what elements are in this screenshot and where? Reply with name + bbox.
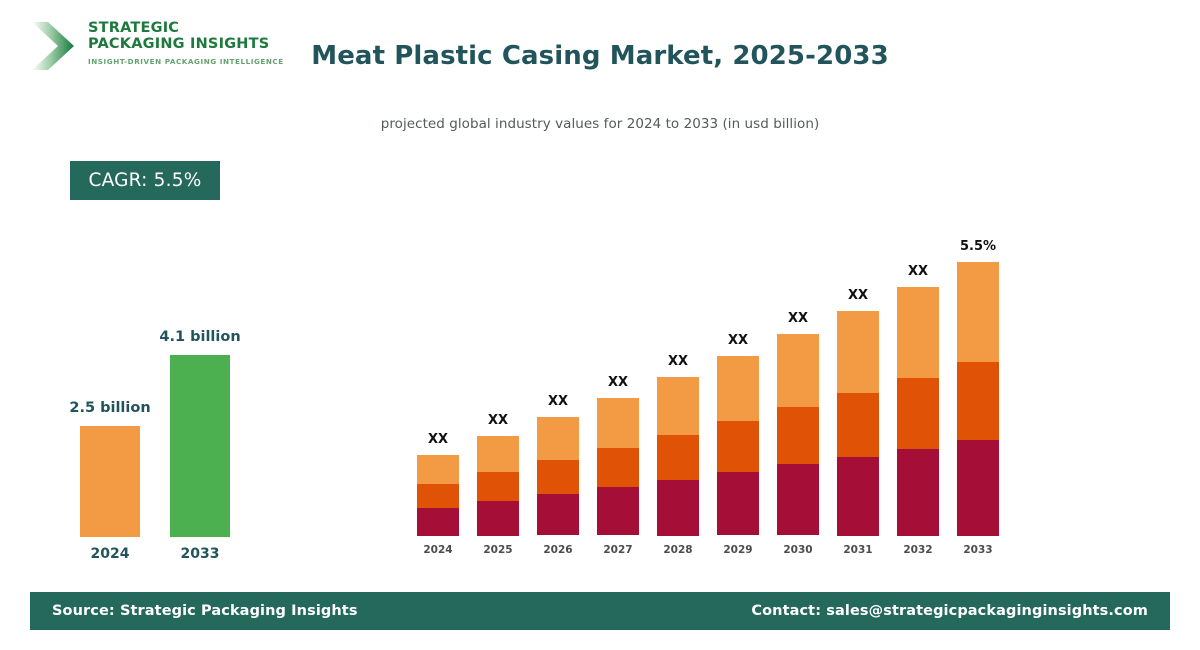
stacked-bar-value-label: XX — [578, 375, 658, 390]
stacked-bar-segment — [597, 448, 639, 487]
stacked-bar — [417, 455, 459, 536]
stacked-bar-segment — [897, 287, 939, 378]
stacked-bar-segment — [597, 487, 639, 535]
stacked-bar — [597, 398, 639, 536]
page-subtitle: projected global industry values for 202… — [0, 116, 1200, 132]
stacked-bar — [837, 311, 879, 536]
stacked-bar-value-label: XX — [638, 354, 718, 369]
comparison-year-label: 2033 — [135, 546, 265, 562]
stacked-bar-segment — [717, 356, 759, 421]
comparison-bar — [170, 355, 230, 537]
stacked-bar-segment — [537, 460, 579, 494]
stacked-bar-segment — [477, 472, 519, 501]
stacked-bar-value-label: XX — [698, 333, 778, 348]
stacked-bar-value-label: XX — [458, 413, 538, 428]
stacked-bar-segment — [657, 377, 699, 435]
footer-bar: Source: Strategic Packaging Insights Con… — [30, 592, 1170, 630]
stacked-bar-segment — [777, 334, 819, 407]
stacked-bar-segment — [417, 508, 459, 536]
stacked-bar-value-label: XX — [878, 264, 958, 279]
stacked-bar — [477, 436, 519, 536]
page-title: Meat Plastic Casing Market, 2025-2033 — [0, 41, 1200, 71]
stacked-bar — [897, 287, 939, 536]
stacked-bar-segment — [957, 262, 999, 362]
stacked-bar-year-label: 2033 — [938, 544, 1018, 556]
stacked-bar-segment — [957, 362, 999, 440]
stacked-bar-segment — [657, 435, 699, 480]
stacked-bar-value-label: XX — [758, 311, 838, 326]
cagr-badge: CAGR: 5.5% — [70, 161, 220, 200]
stacked-bar-segment — [417, 484, 459, 508]
stacked-bar-segment — [777, 464, 819, 535]
stacked-bar-segment — [477, 501, 519, 536]
stacked-bar-segment — [597, 398, 639, 448]
stacked-bar-segment — [777, 407, 819, 464]
stacked-bar-segment — [717, 472, 759, 535]
stacked-bar-segment — [837, 393, 879, 457]
logo-line-1: STRATEGIC — [88, 21, 284, 37]
stacked-bar — [957, 262, 999, 536]
stacked-bar — [777, 334, 819, 536]
stacked-bar-chart: XX2024XX2025XX2026XX2027XX2028XX2029XX20… — [400, 190, 1020, 560]
stacked-bar-segment — [957, 440, 999, 536]
stacked-bar-segment — [657, 480, 699, 536]
stacked-bar — [537, 417, 579, 536]
stacked-bar-segment — [897, 449, 939, 536]
stacked-bar-segment — [537, 417, 579, 460]
stacked-bar — [717, 356, 759, 536]
stacked-bar — [657, 377, 699, 536]
stacked-bar-segment — [837, 457, 879, 536]
stacked-bar-segment — [897, 378, 939, 449]
stacked-bar-segment — [477, 436, 519, 472]
footer-contact: Contact: sales@strategicpackaginginsight… — [751, 603, 1148, 619]
footer-source: Source: Strategic Packaging Insights — [52, 603, 358, 619]
stacked-bar-segment — [537, 494, 579, 535]
stacked-bar-value-label: 5.5% — [938, 239, 1018, 254]
stacked-bar-value-label: XX — [398, 432, 478, 447]
stacked-bar-value-label: XX — [818, 288, 898, 303]
comparison-bar — [80, 426, 140, 537]
stacked-bar-value-label: XX — [518, 394, 598, 409]
stacked-bar-segment — [837, 311, 879, 393]
stacked-bar-segment — [717, 421, 759, 472]
comparison-bar-chart: 2.5 billion20244.1 billion2033 — [40, 300, 300, 570]
comparison-value-label: 2.5 billion — [45, 400, 175, 416]
comparison-value-label: 4.1 billion — [135, 329, 265, 345]
stacked-bar-segment — [417, 455, 459, 484]
